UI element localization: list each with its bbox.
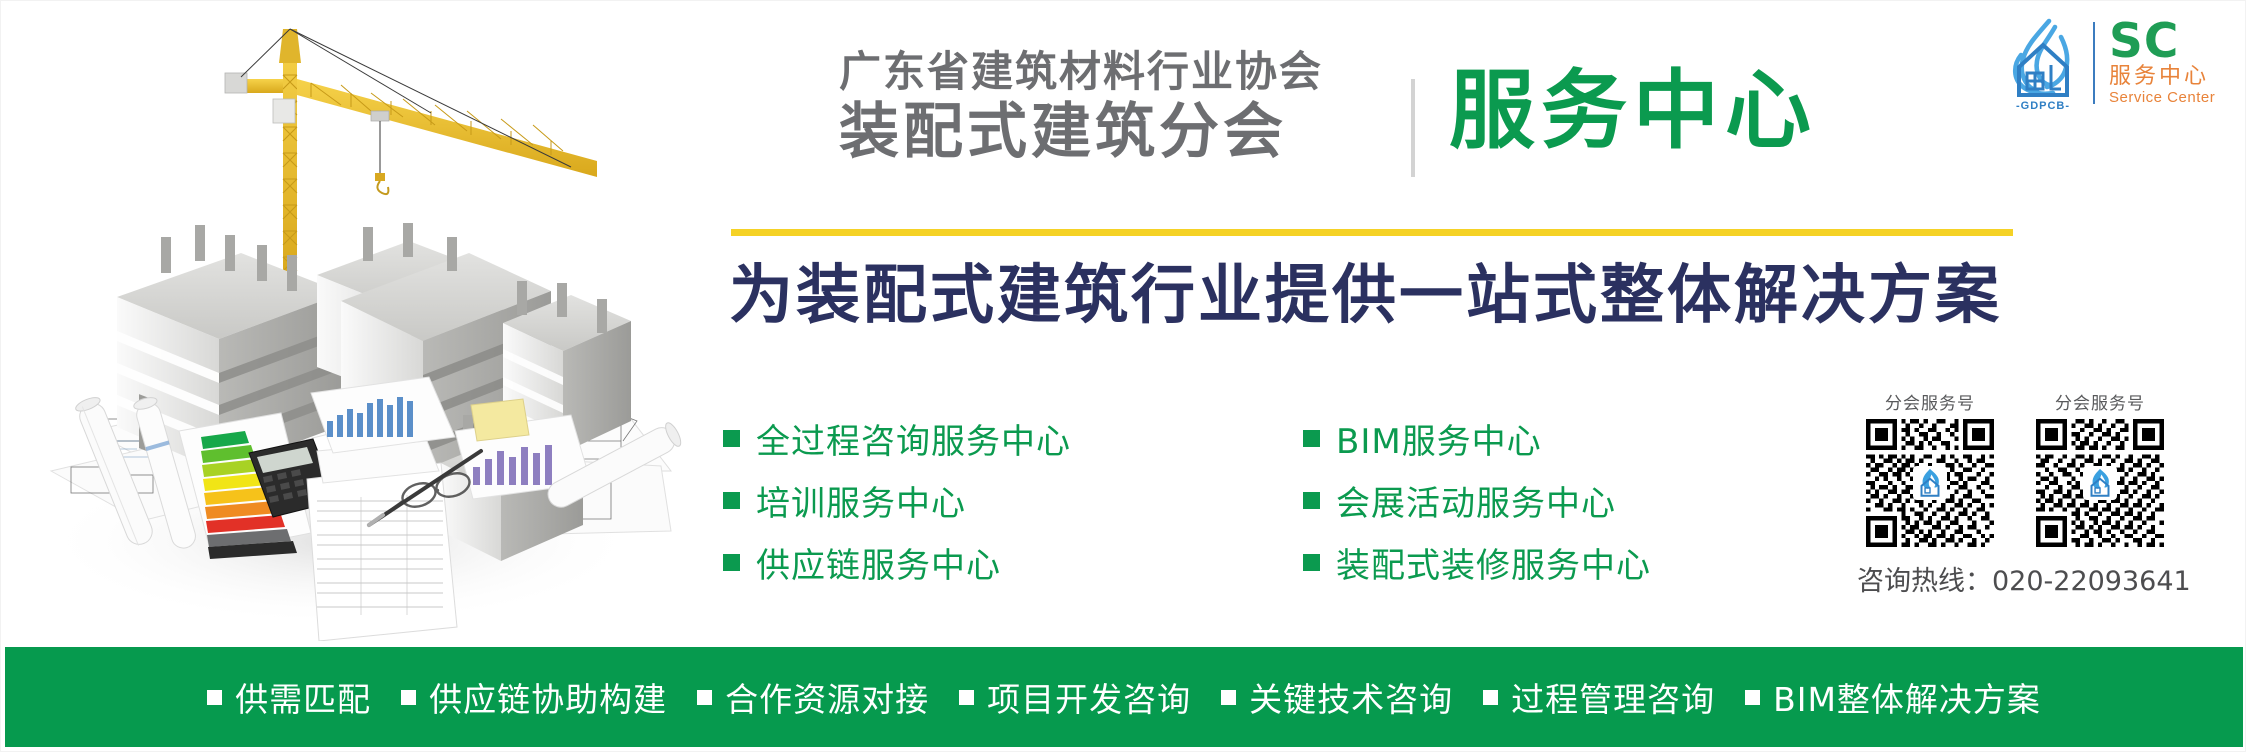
logo-text-block: SC 服务中心 Service Center xyxy=(2109,19,2215,107)
qr-caption: 分会服务号 xyxy=(2027,389,2173,414)
square-bullet-icon xyxy=(959,690,974,705)
service-item[interactable]: 培训服务中心 xyxy=(723,469,1303,531)
gdpcb-house-flame-icon: -GDPCB- xyxy=(1997,15,2089,111)
service-item-label: 全过程咨询服务中心 xyxy=(756,414,1071,463)
square-bullet-icon xyxy=(1303,430,1320,447)
square-bullet-icon xyxy=(401,690,416,705)
square-bullet-icon xyxy=(697,690,712,705)
logo-english-text: Service Center xyxy=(2109,89,2215,107)
service-item-label: BIM服务中心 xyxy=(1336,414,1542,463)
bottom-item-label: 供应链协助构建 xyxy=(429,673,667,721)
service-item-label: 培训服务中心 xyxy=(756,476,966,525)
square-bullet-icon xyxy=(207,690,222,705)
bottom-item-label: 供需匹配 xyxy=(235,673,371,721)
header-vertical-divider xyxy=(1411,79,1415,177)
organization-name-block: 广东省建筑材料行业协会 装配式建筑分会 xyxy=(839,47,1399,165)
service-item[interactable]: 会展活动服务中心 xyxy=(1303,469,1763,531)
square-bullet-icon xyxy=(1221,690,1236,705)
service-item-label: 供应链服务中心 xyxy=(756,538,1001,587)
bottom-item[interactable]: 供应链协助构建 xyxy=(401,673,667,721)
construction-hero-image xyxy=(11,1,691,641)
service-column-left: 全过程咨询服务中心 培训服务中心 供应链服务中心 xyxy=(723,407,1303,593)
service-item[interactable]: 装配式装修服务中心 xyxy=(1303,531,1763,593)
qr-center-logo-icon xyxy=(2083,466,2117,500)
service-center-lists: 全过程咨询服务中心 培训服务中心 供应链服务中心 BIM服务中心 会展活动服务中… xyxy=(723,407,1763,593)
main-slogan: 为装配式建筑行业提供一站式整体解决方案 xyxy=(729,259,2002,333)
bottom-item-label: 合作资源对接 xyxy=(725,673,929,721)
bottom-item[interactable]: 项目开发咨询 xyxy=(959,673,1191,721)
bottom-service-bar: 供需匹配 供应链协助构建 合作资源对接 项目开发咨询 关键技术咨询 过程管理咨询 xyxy=(5,647,2243,747)
qr-code-1[interactable] xyxy=(1866,419,1994,547)
qr-block: 分会服务号 xyxy=(2027,389,2173,547)
hotline-text: 咨询热线：020-22093641 xyxy=(1857,559,2229,598)
bottom-items-list: 供需匹配 供应链协助构建 合作资源对接 项目开发咨询 关键技术咨询 过程管理咨询 xyxy=(207,673,2041,721)
bottom-item-label: 过程管理咨询 xyxy=(1511,673,1715,721)
bottom-item[interactable]: 过程管理咨询 xyxy=(1483,673,1715,721)
service-item[interactable]: 全过程咨询服务中心 xyxy=(723,407,1303,469)
qr-block: 分会服务号 xyxy=(1857,389,2003,547)
bottom-item[interactable]: 关键技术咨询 xyxy=(1221,673,1453,721)
bottom-item[interactable]: 供需匹配 xyxy=(207,673,371,721)
square-bullet-icon xyxy=(723,430,740,447)
association-name: 广东省建筑材料行业协会 xyxy=(839,47,1399,97)
service-item-label: 会展活动服务中心 xyxy=(1336,476,1616,525)
branch-name: 装配式建筑分会 xyxy=(839,99,1399,165)
gdpcb-code-text: -GDPCB- xyxy=(1997,100,2089,112)
qr-contact-panel: 分会服务号 xyxy=(1857,389,2229,598)
service-item-label: 装配式装修服务中心 xyxy=(1336,538,1651,587)
brand-logo: -GDPCB- SC 服务中心 Service Center xyxy=(1997,15,2237,111)
promotional-banner: 广东省建筑材料行业协会 装配式建筑分会 服务中心 为装配式建筑行业提供一站式整体… xyxy=(0,0,2246,752)
service-item[interactable]: 供应链服务中心 xyxy=(723,531,1303,593)
bottom-item-label: 关键技术咨询 xyxy=(1249,673,1453,721)
sticky-note xyxy=(471,399,529,441)
logo-chinese-text: 服务中心 xyxy=(2109,64,2215,89)
qr-caption: 分会服务号 xyxy=(1857,389,2003,414)
bottom-item[interactable]: 合作资源对接 xyxy=(697,673,929,721)
yellow-divider-rule xyxy=(731,229,2013,236)
bottom-item[interactable]: BIM整体解决方案 xyxy=(1745,673,2041,721)
square-bullet-icon xyxy=(723,492,740,509)
square-bullet-icon xyxy=(1483,690,1498,705)
logo-vertical-divider xyxy=(2093,22,2095,104)
qr-center-logo-icon xyxy=(1913,466,1947,500)
logo-sc-text: SC xyxy=(2109,19,2215,64)
service-column-right: BIM服务中心 会展活动服务中心 装配式装修服务中心 xyxy=(1303,407,1763,593)
service-item[interactable]: BIM服务中心 xyxy=(1303,407,1763,469)
bottom-item-label: BIM整体解决方案 xyxy=(1773,673,2041,721)
square-bullet-icon xyxy=(1303,492,1320,509)
service-center-heading: 服务中心 xyxy=(1449,61,1817,161)
square-bullet-icon xyxy=(723,554,740,571)
square-bullet-icon xyxy=(1303,554,1320,571)
square-bullet-icon xyxy=(1745,690,1760,705)
qr-code-2[interactable] xyxy=(2036,419,2164,547)
form-documents xyxy=(307,441,457,641)
bottom-item-label: 项目开发咨询 xyxy=(987,673,1191,721)
